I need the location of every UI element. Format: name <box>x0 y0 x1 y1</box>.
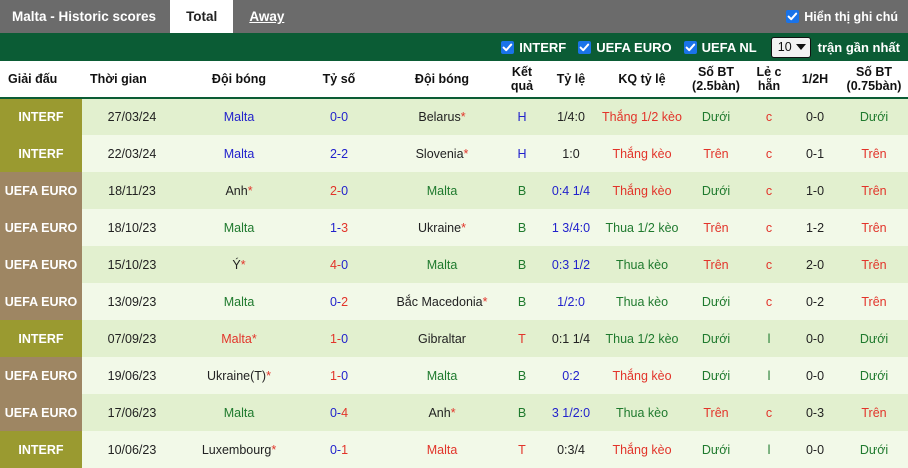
half-time-score: 0-2 <box>790 283 840 320</box>
check-icon <box>786 10 799 23</box>
handicap-line: 0:3/4 <box>542 431 600 468</box>
final-score[interactable]: 0-4 <box>296 394 382 431</box>
away-team[interactable]: Anh* <box>382 394 502 431</box>
league-badge[interactable]: INTERF <box>0 431 82 468</box>
table-row[interactable]: UEFA EURO15/10/23Ý*4-0MaltaB0:3 1/2Thua … <box>0 246 908 283</box>
odd-even: l <box>748 357 790 394</box>
league-badge[interactable]: UEFA EURO <box>0 246 82 283</box>
half-time-score: 0-0 <box>790 357 840 394</box>
handicap-result: Thắng kèo <box>600 172 684 209</box>
over-under-075: Dưới <box>840 357 908 394</box>
table-row[interactable]: INTERF22/03/24Malta2-2Slovenia*H1:0Thắng… <box>0 135 908 172</box>
table-row[interactable]: UEFA EURO19/06/23Ukraine(T)*1-0MaltaB0:2… <box>0 357 908 394</box>
handicap-line: 0:2 <box>542 357 600 394</box>
match-result: B <box>502 246 542 283</box>
away-team[interactable]: Ukraine* <box>382 209 502 246</box>
show-notes-label: Hiển thị ghi chú <box>804 10 898 24</box>
col-header-home-team[interactable]: Đội bóng <box>182 61 296 98</box>
away-team[interactable]: Malta <box>382 246 502 283</box>
handicap-result: Thắng kèo <box>600 357 684 394</box>
home-team[interactable]: Malta* <box>182 320 296 357</box>
over-under-25: Dưới <box>684 320 748 357</box>
away-team[interactable]: Malta <box>382 431 502 468</box>
final-score[interactable]: 2-2 <box>296 135 382 172</box>
col-header-score[interactable]: Tỷ số <box>296 61 382 98</box>
col-header-half-time[interactable]: 1/2H <box>790 61 840 98</box>
table-row[interactable]: UEFA EURO17/06/23Malta0-4Anh*B3 1/2:0Thu… <box>0 394 908 431</box>
table-row[interactable]: INTERF07/09/23Malta*1-0GibraltarT0:1 1/4… <box>0 320 908 357</box>
match-date: 19/06/23 <box>82 357 182 394</box>
away-team[interactable]: Slovenia* <box>382 135 502 172</box>
half-time-score: 2-0 <box>790 246 840 283</box>
odd-even: l <box>748 431 790 468</box>
odd-even: l <box>748 320 790 357</box>
match-date: 13/09/23 <box>82 283 182 320</box>
col-header-ou-075[interactable]: Số BT (0.75bàn) <box>840 61 908 98</box>
handicap-line: 0:3 1/2 <box>542 246 600 283</box>
tab-away[interactable]: Away <box>233 0 300 33</box>
handicap-result: Thắng kèo <box>600 431 684 468</box>
tab-total-label: Total <box>186 9 217 24</box>
match-count-select-wrap: 10 <box>771 37 811 58</box>
check-icon <box>501 41 514 54</box>
handicap-line: 0:4 1/4 <box>542 172 600 209</box>
handicap-result: Thua 1/2 kèo <box>600 209 684 246</box>
odd-even: c <box>748 98 790 135</box>
over-under-075: Dưới <box>840 431 908 468</box>
filter-uefa-nl-label: UEFA NL <box>702 40 757 55</box>
home-team[interactable]: Malta <box>182 135 296 172</box>
filter-interf[interactable]: INTERF <box>501 40 566 55</box>
handicap-line: 1/2:0 <box>542 283 600 320</box>
match-date: 18/11/23 <box>82 172 182 209</box>
final-score[interactable]: 1-0 <box>296 320 382 357</box>
title-bar: Malta - Historic scores Total Away Hiển … <box>0 0 908 33</box>
handicap-result: Thua kèo <box>600 283 684 320</box>
titlebar-spacer <box>300 0 786 33</box>
home-team[interactable]: Malta <box>182 394 296 431</box>
odd-even: c <box>748 283 790 320</box>
match-result: B <box>502 394 542 431</box>
over-under-075: Trên <box>840 246 908 283</box>
away-team[interactable]: Belarus* <box>382 98 502 135</box>
chevron-down-icon <box>796 44 806 50</box>
home-team[interactable]: Luxembourg* <box>182 431 296 468</box>
match-result: H <box>502 135 542 172</box>
col-header-handicap[interactable]: Tỷ lệ <box>542 61 600 98</box>
handicap-line: 0:1 1/4 <box>542 320 600 357</box>
handicap-line: 1 3/4:0 <box>542 209 600 246</box>
odd-even: c <box>748 172 790 209</box>
match-result: T <box>502 320 542 357</box>
show-notes-toggle[interactable]: Hiển thị ghi chú <box>786 0 908 33</box>
filter-uefa-euro-label: UEFA EURO <box>596 40 671 55</box>
over-under-075: Dưới <box>840 320 908 357</box>
over-under-075: Dưới <box>840 98 908 135</box>
final-score[interactable]: 0-2 <box>296 283 382 320</box>
match-result: B <box>502 357 542 394</box>
handicap-result: Thua 1/2 kèo <box>600 320 684 357</box>
col-header-odd-even[interactable]: Lẻ c hẵn <box>748 61 790 98</box>
home-team[interactable]: Malta <box>182 209 296 246</box>
filter-bar: INTERF UEFA EURO UEFA NL 10 trận gần nhấ… <box>0 33 908 61</box>
check-icon <box>684 41 697 54</box>
over-under-25: Dưới <box>684 283 748 320</box>
handicap-line: 3 1/2:0 <box>542 394 600 431</box>
historic-scores-table: Giải đấu Thời gian Đội bóng Tỷ số Đội bó… <box>0 61 908 468</box>
away-team[interactable]: Gibraltar <box>382 320 502 357</box>
over-under-25: Trên <box>684 209 748 246</box>
league-badge[interactable]: UEFA EURO <box>0 209 82 246</box>
match-result: H <box>502 98 542 135</box>
table-row[interactable]: INTERF10/06/23Luxembourg*0-1MaltaT0:3/4T… <box>0 431 908 468</box>
tab-away-label: Away <box>249 9 284 24</box>
col-header-ou-25[interactable]: Số BT (2.5bàn) <box>684 61 748 98</box>
half-time-score: 0-0 <box>790 431 840 468</box>
home-team[interactable]: Ý* <box>182 246 296 283</box>
match-date: 15/10/23 <box>82 246 182 283</box>
match-date: 27/03/24 <box>82 98 182 135</box>
match-date: 22/03/24 <box>82 135 182 172</box>
tab-total[interactable]: Total <box>170 0 233 33</box>
over-under-075: Trên <box>840 172 908 209</box>
match-result: B <box>502 172 542 209</box>
filter-uefa-euro[interactable]: UEFA EURO <box>578 40 671 55</box>
final-score[interactable]: 1-0 <box>296 357 382 394</box>
home-team[interactable]: Malta <box>182 283 296 320</box>
league-badge[interactable]: INTERF <box>0 135 82 172</box>
final-score[interactable]: 2-0 <box>296 172 382 209</box>
col-header-handicap-result[interactable]: KQ tỷ lệ <box>600 61 684 98</box>
match-count-suffix: trận gần nhất <box>818 40 900 55</box>
match-date: 18/10/23 <box>82 209 182 246</box>
half-time-score: 1-0 <box>790 172 840 209</box>
over-under-075: Trên <box>840 135 908 172</box>
half-time-score: 0-0 <box>790 98 840 135</box>
over-under-25: Dưới <box>684 357 748 394</box>
final-score[interactable]: 0-1 <box>296 431 382 468</box>
over-under-075: Trên <box>840 394 908 431</box>
away-team[interactable]: Bắc Macedonia* <box>382 283 502 320</box>
check-icon <box>578 41 591 54</box>
final-score[interactable]: 1-3 <box>296 209 382 246</box>
away-team[interactable]: Malta <box>382 172 502 209</box>
handicap-line: 1:0 <box>542 135 600 172</box>
table-row[interactable]: UEFA EURO13/09/23Malta0-2Bắc Macedonia*B… <box>0 283 908 320</box>
handicap-line: 1/4:0 <box>542 98 600 135</box>
match-count-value: 10 <box>778 40 792 54</box>
handicap-result: Thắng 1/2 kèo <box>600 98 684 135</box>
home-team[interactable]: Ukraine(T)* <box>182 357 296 394</box>
home-team[interactable]: Anh* <box>182 172 296 209</box>
table-row[interactable]: UEFA EURO18/10/23Malta1-3Ukraine*B1 3/4:… <box>0 209 908 246</box>
match-count-select[interactable]: 10 <box>771 37 811 58</box>
match-result: B <box>502 209 542 246</box>
final-score[interactable]: 0-0 <box>296 98 382 135</box>
league-badge[interactable]: INTERF <box>0 98 82 135</box>
half-time-score: 0-0 <box>790 320 840 357</box>
col-header-result[interactable]: Kết quả <box>502 61 542 98</box>
over-under-25: Dưới <box>684 98 748 135</box>
league-badge[interactable]: UEFA EURO <box>0 172 82 209</box>
col-header-time[interactable]: Thời gian <box>82 61 182 98</box>
handicap-result: Thua kèo <box>600 246 684 283</box>
league-badge[interactable]: UEFA EURO <box>0 283 82 320</box>
home-team[interactable]: Malta <box>182 98 296 135</box>
odd-even: c <box>748 135 790 172</box>
table-body: INTERF27/03/24Malta0-0Belarus*H1/4:0Thắn… <box>0 98 908 468</box>
odd-even: c <box>748 246 790 283</box>
half-time-score: 0-1 <box>790 135 840 172</box>
over-under-25: Trên <box>684 246 748 283</box>
half-time-score: 0-3 <box>790 394 840 431</box>
over-under-25: Dưới <box>684 172 748 209</box>
half-time-score: 1-2 <box>790 209 840 246</box>
match-date: 17/06/23 <box>82 394 182 431</box>
handicap-result: Thắng kèo <box>600 135 684 172</box>
table-row[interactable]: UEFA EURO18/11/23Anh*2-0MaltaB0:4 1/4Thắ… <box>0 172 908 209</box>
col-header-away-team[interactable]: Đội bóng <box>382 61 502 98</box>
match-result: B <box>502 283 542 320</box>
away-team[interactable]: Malta <box>382 357 502 394</box>
over-under-075: Trên <box>840 283 908 320</box>
match-date: 07/09/23 <box>82 320 182 357</box>
over-under-25: Trên <box>684 394 748 431</box>
odd-even: c <box>748 209 790 246</box>
final-score[interactable]: 4-0 <box>296 246 382 283</box>
table-row[interactable]: INTERF27/03/24Malta0-0Belarus*H1/4:0Thắn… <box>0 98 908 135</box>
handicap-result: Thua kèo <box>600 394 684 431</box>
league-badge[interactable]: UEFA EURO <box>0 357 82 394</box>
match-result: T <box>502 431 542 468</box>
league-badge[interactable]: INTERF <box>0 320 82 357</box>
filter-interf-label: INTERF <box>519 40 566 55</box>
col-header-league[interactable]: Giải đấu <box>0 61 82 98</box>
odd-even: c <box>748 394 790 431</box>
over-under-075: Trên <box>840 209 908 246</box>
filter-uefa-nl[interactable]: UEFA NL <box>684 40 757 55</box>
page-title: Malta - Historic scores <box>0 0 170 33</box>
over-under-25: Dưới <box>684 431 748 468</box>
over-under-25: Trên <box>684 135 748 172</box>
league-badge[interactable]: UEFA EURO <box>0 394 82 431</box>
match-date: 10/06/23 <box>82 431 182 468</box>
table-header-row: Giải đấu Thời gian Đội bóng Tỷ số Đội bó… <box>0 61 908 98</box>
